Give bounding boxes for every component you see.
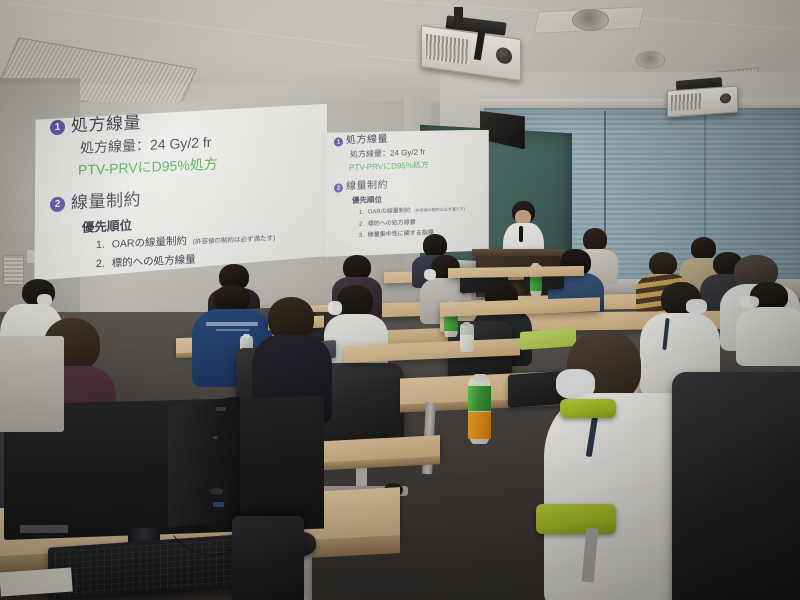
face-mask (556, 369, 595, 399)
water-bottle[interactable] (460, 324, 474, 352)
ceiling-projector-right (667, 86, 738, 118)
chair-seat[interactable] (560, 399, 616, 418)
head (268, 297, 314, 340)
slide-list-number: 1. (96, 238, 105, 250)
projector-lens (496, 47, 512, 65)
shirt-print-line (206, 322, 257, 326)
chair-back-foreground[interactable] (232, 516, 304, 600)
head (214, 285, 249, 312)
bottle-cap (463, 322, 470, 326)
slide-heading-1: 処方線量 (346, 134, 388, 145)
secondary-projection-screen: 1 処方線量 処方線量：24 Gy/2 fr PTV-PRVにD95%処方 2 … (325, 130, 489, 257)
bottle-label (444, 315, 458, 330)
projector-mount-pole (454, 7, 463, 27)
slide-list-text: OARの線量制約 (367, 208, 410, 216)
tower-badge (216, 407, 226, 411)
bottle-label (460, 335, 474, 346)
face-mask (37, 294, 52, 307)
ceiling-dome-fixture (636, 51, 665, 69)
face-mask (424, 269, 436, 280)
green-tea-bottle[interactable] (468, 378, 491, 444)
paper-sheet (0, 568, 73, 597)
bottle-cap (243, 334, 250, 338)
monitor-label (20, 525, 68, 533)
slide-list-number: 1. (359, 209, 364, 215)
head (649, 252, 677, 276)
slide-list-number: 2. (359, 221, 364, 227)
tower-logo (210, 488, 223, 495)
slide-list-note: (許容値の制約は必ず満たす) (414, 206, 465, 213)
slide-list-text: 標的への処方線量 (112, 253, 196, 269)
slide-section-badge-1: 1 (334, 137, 343, 146)
slide-content-secondary: 1 処方線量 処方線量：24 Gy/2 fr PTV-PRVにD95%処方 2 … (325, 130, 489, 257)
handheld-microphone (519, 226, 522, 242)
slide-heading-2: 線量制約 (346, 180, 388, 191)
side-cabinet (0, 336, 64, 432)
lecture-room-photo: 1 処方線量 処方線量：24 Gy/2 fr PTV-PRVにD95%処方 2 … (0, 0, 800, 600)
slide-section-badge-2: 2 (334, 183, 343, 192)
head (423, 234, 447, 257)
head (337, 285, 373, 317)
slide-list-number: 3. (359, 232, 364, 238)
audience-member (736, 282, 800, 366)
slide-list-number: 2. (96, 257, 105, 269)
slide-content-main: 1 処方線量 処方線量：24 Gy/2 fr PTV-PRVにD95%処方 2 … (34, 104, 327, 281)
bottle-label-green (468, 386, 491, 411)
face-mask (740, 296, 759, 308)
head (343, 255, 371, 280)
projector-grille (426, 34, 469, 65)
face-mask (686, 299, 707, 314)
slide-list-note: (許容値の制約は必ず満たす) (193, 235, 275, 246)
slide-heading-2: 線量制約 (71, 191, 141, 212)
chair[interactable] (324, 363, 404, 447)
slide-section-badge-2: 2 (50, 196, 65, 212)
projector-grille (671, 94, 701, 111)
chair[interactable] (672, 372, 800, 600)
slide-section-badge-1: 1 (50, 119, 65, 135)
slide-list-text: 標的への処方線量 (367, 219, 415, 227)
bottle-cap (474, 374, 486, 381)
bottle-label-orange (468, 412, 491, 438)
tower-port (213, 436, 219, 439)
main-projection-screen: 1 処方線量 処方線量：24 Gy/2 fr PTV-PRVにD95%処方 2 … (34, 104, 327, 281)
torso-white-coat (736, 307, 800, 366)
slide-list-text: OARの線量制約 (112, 235, 187, 250)
chair-seat[interactable] (536, 504, 616, 534)
projector-lens (720, 94, 731, 105)
head (583, 228, 607, 251)
slide-list-item: 2. 標的への処方線量 (359, 214, 483, 227)
